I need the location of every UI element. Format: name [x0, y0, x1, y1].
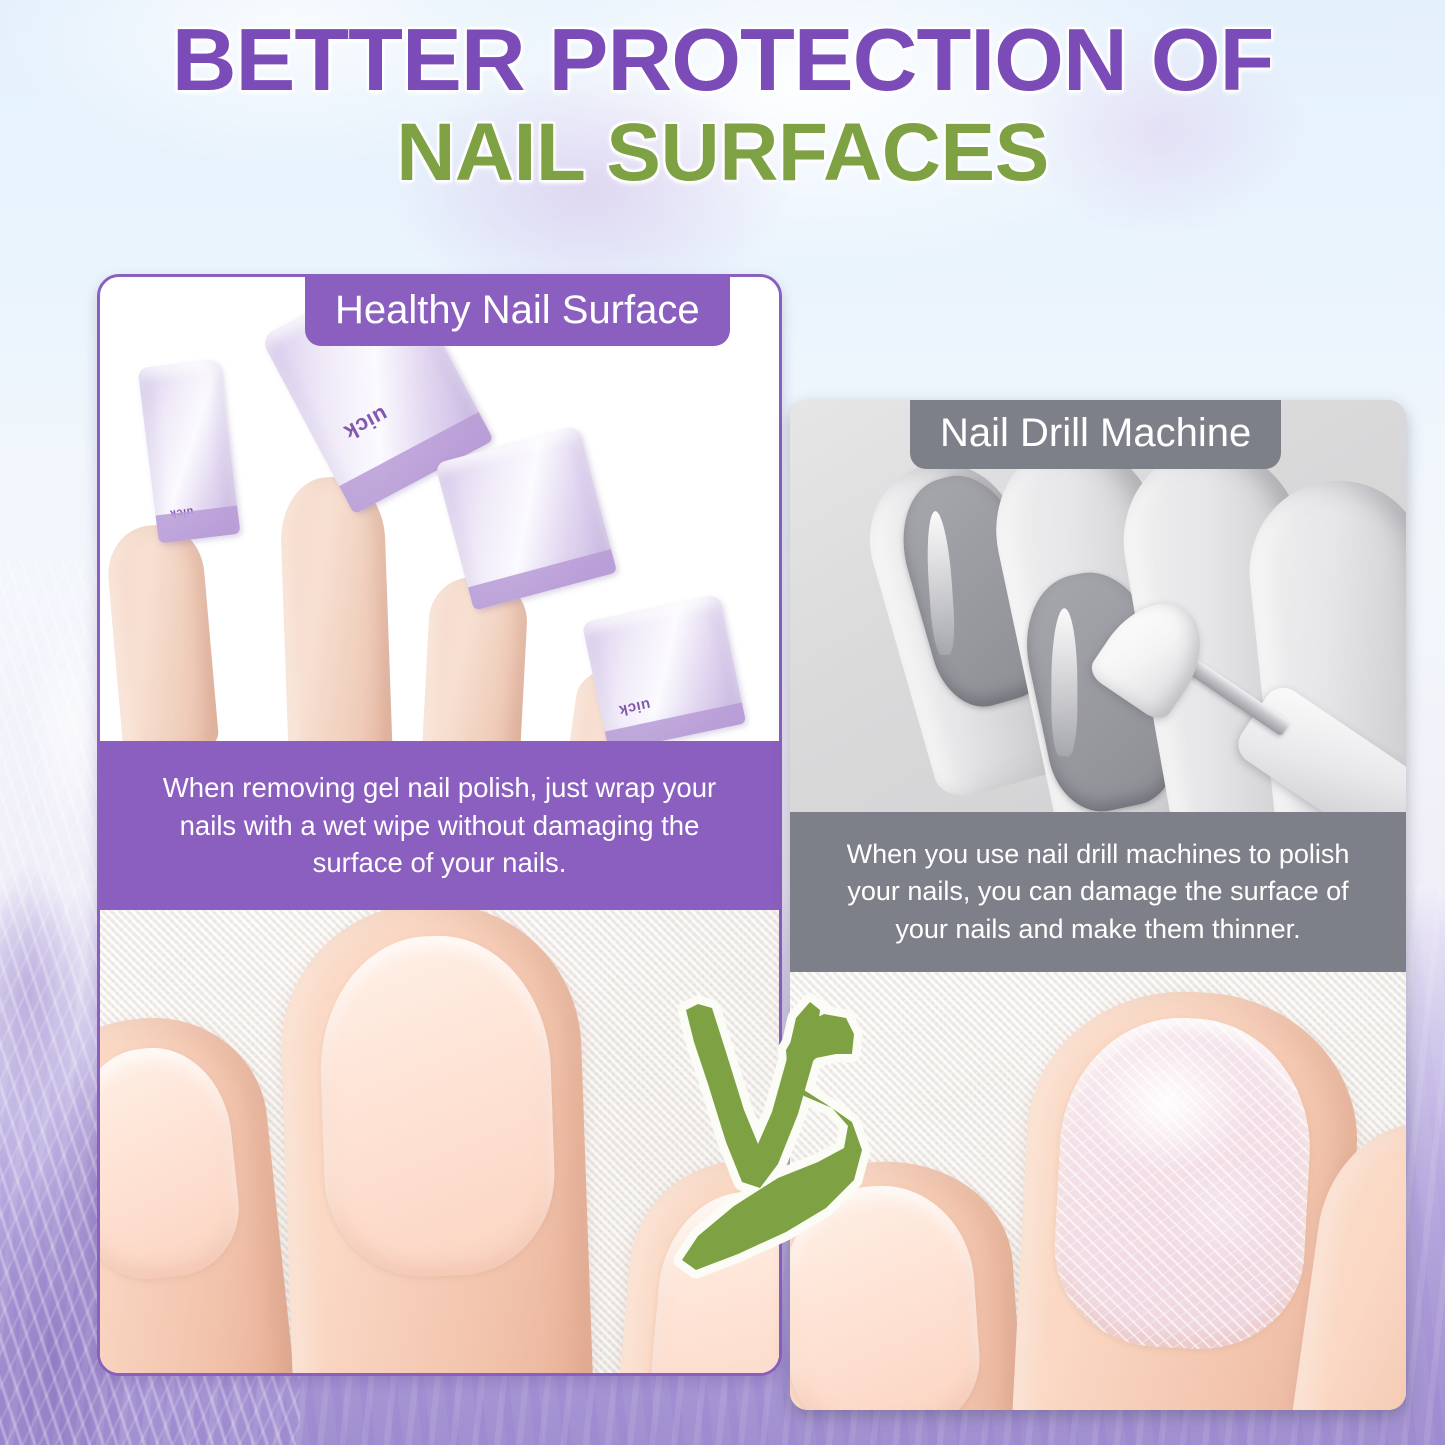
title-line-secondary: NAIL SURFACES [0, 110, 1445, 195]
finger-shape [279, 475, 393, 741]
wipe-brand-text: uick [617, 696, 652, 719]
nail-gloss-highlight [1051, 608, 1077, 756]
natural-nail-plate [316, 932, 558, 1280]
foil-wipe-shape: uick [582, 594, 746, 741]
foil-wipe-shape: uick [138, 359, 241, 544]
wipe-brand-text: uick [339, 401, 392, 446]
healthy-nail-caption: When removing gel nail polish, just wrap… [100, 741, 779, 910]
nail-gloss-highlight [924, 510, 957, 655]
gel-remover-wipes-photo: uick uick uick [100, 277, 779, 741]
page-title: BETTER PROTECTION OF NAIL SURFACES [0, 14, 1445, 195]
damaged-nail-plate [1050, 1012, 1317, 1355]
title-line-primary: BETTER PROTECTION OF [0, 14, 1445, 106]
healthy-nail-badge: Healthy Nail Surface [305, 277, 730, 346]
nail-drill-caption: When you use nail drill machines to poli… [790, 812, 1406, 972]
finger-shape [104, 521, 220, 741]
damaged-nails-photo [790, 972, 1406, 1410]
wipes-illustration: uick uick uick [100, 277, 779, 741]
nail-drill-machine-card: Nail Drill Machine When you use nail dri… [790, 400, 1406, 1410]
healthy-nail-surface-card: Healthy Nail Surface uick uick uick When… [97, 274, 782, 1376]
healthy-nails-photo [100, 910, 779, 1373]
nail-drill-badge: Nail Drill Machine [910, 400, 1281, 469]
wipe-brand-text: uick [169, 505, 194, 520]
